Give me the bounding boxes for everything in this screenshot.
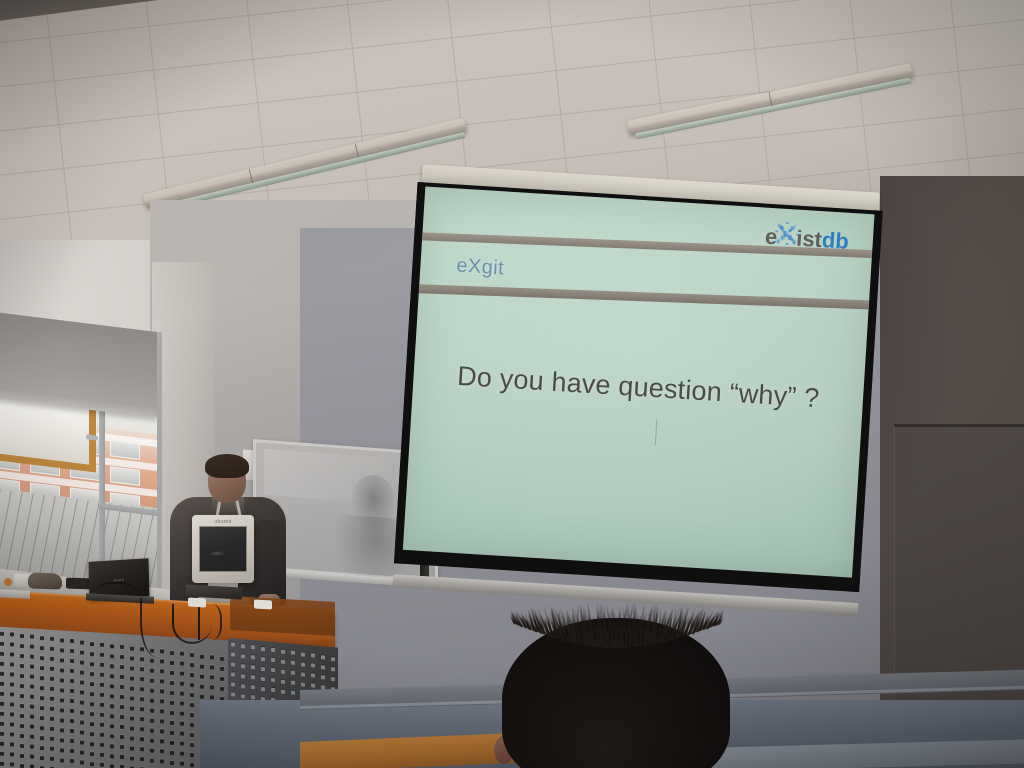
slide: e ist db eXgit Do you have question “why… [403,186,875,577]
presenter-hair [205,454,249,478]
cable-connector-2 [254,600,272,610]
cable-loop-4 [198,604,222,640]
audience-member-head [502,618,730,768]
projection-screen-surface: e ist db eXgit Do you have question “why… [403,186,875,577]
monitor-bezel-logo: ubumb [214,519,231,525]
slide-artifact-mark [655,420,658,446]
monitor-screen [199,526,247,572]
window-with-roller-blind [0,312,162,595]
slide-divider-band-bottom [419,284,869,309]
projection-screen: e ist db eXgit Do you have question “why… [393,176,883,604]
screen-frame: e ist db eXgit Do you have question “why… [394,182,883,592]
desk-phone[interactable] [28,572,62,589]
audience-member-hair [502,604,730,654]
lectern-monitor[interactable]: ubumb [192,515,254,583]
cable-loop-1 [96,582,136,604]
logo-x-icon [776,222,798,245]
window-mullion-vertical [99,395,105,588]
monitor-screen-glow [209,551,225,555]
cable-connector-1 [188,598,206,608]
window-handle[interactable] [86,434,98,440]
slide-title: eXgit [456,255,505,281]
lectern-top-shaded [230,596,335,636]
orange-cap[interactable] [4,578,12,586]
photo-scene: e ist db eXgit Do you have question “why… [0,0,1024,768]
slide-body-text: Do you have question “why” ? [413,358,864,417]
metal-plate [0,589,30,599]
